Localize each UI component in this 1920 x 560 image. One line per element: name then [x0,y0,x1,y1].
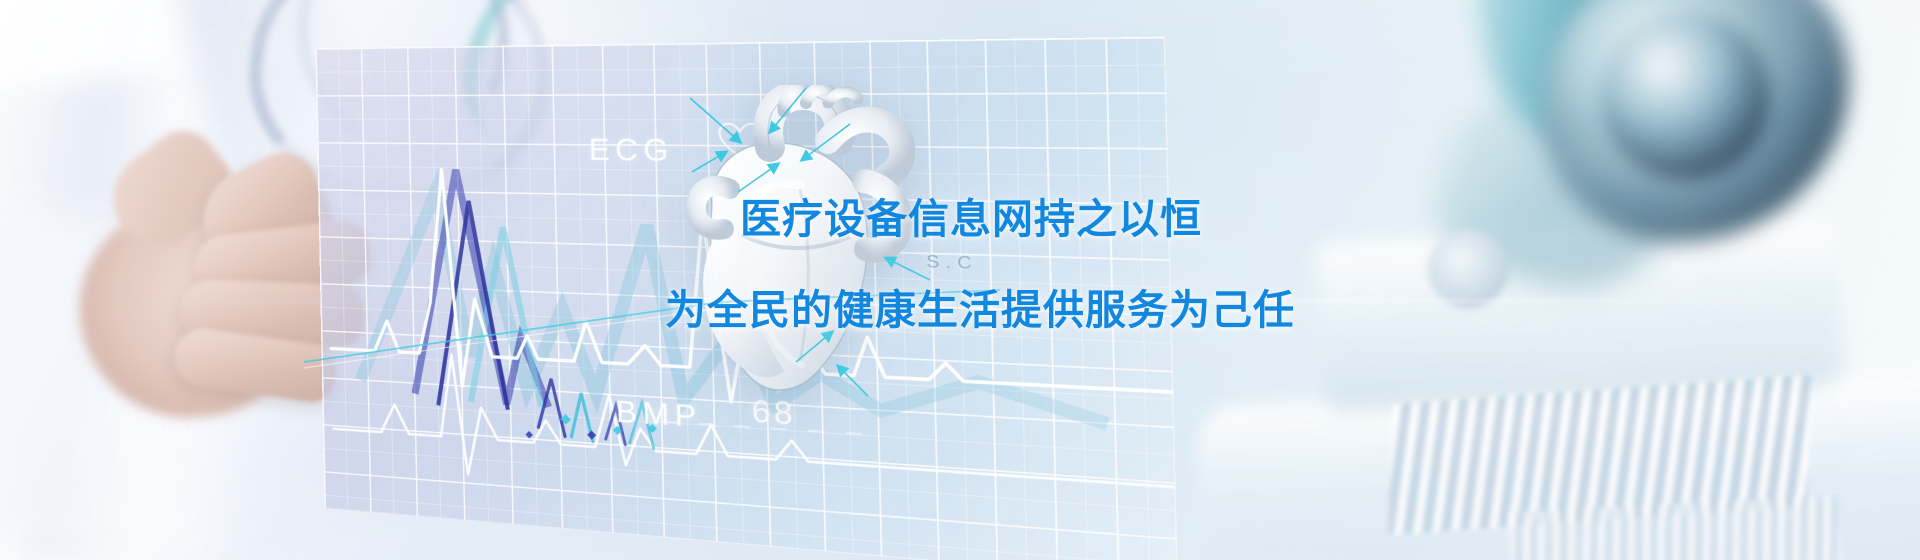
headline-group: 医疗设备信息网持之以恒 为全民的健康生活提供服务为己任 [740,195,1500,335]
headline-secondary: 为全民的健康生活提供服务为己任 [665,286,1500,334]
microscope-lens [1600,12,1770,180]
headline-primary: 医疗设备信息网持之以恒 [740,195,1500,243]
hero-banner: ECG BMP 68 S.C [0,0,1920,560]
